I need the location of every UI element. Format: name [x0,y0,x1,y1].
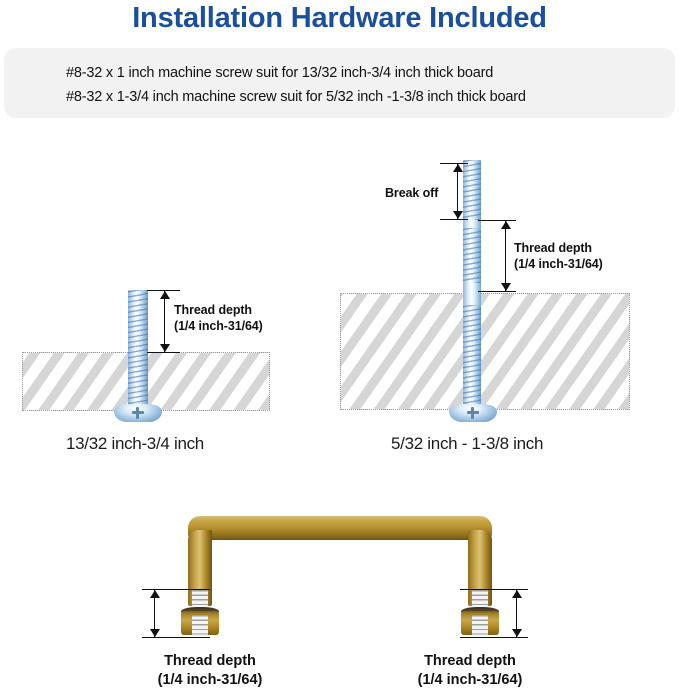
dim-tick-breakoff-bottom [440,219,468,220]
handle-dim-arrow-down-right [512,629,522,637]
dim-label-long: Thread depth (1/4 inch-31/64) [514,240,603,272]
screw-head-long [449,404,497,422]
dim-arrow-up-long [501,221,511,229]
page-title: Installation Hardware Included [0,0,679,36]
screw-long-middle [463,228,481,283]
dim-arrow-down-short [160,344,170,352]
screw-slot-cross [136,407,139,419]
handle-label-right-line1: Thread depth [390,652,550,671]
handle-label-right-line2: (1/4 inch-31/64) [390,671,550,690]
screw-short [128,290,148,411]
screw-plain-ring [463,220,481,228]
dim-label-short-line1: Thread depth [174,302,263,318]
handle-post-left-tip [192,615,208,636]
handle-dim-tick-bottom-right [460,637,528,638]
handle-label-right: Thread depth (1/4 inch-31/64) [390,652,550,690]
dim-line-short [164,291,165,352]
handle-label-left: Thread depth (1/4 inch-31/64) [130,652,290,690]
caption-short: 13/32 inch-3/4 inch [66,434,204,454]
dim-line-long [505,221,506,291]
screw-shaft-upper [463,160,481,220]
screw-plain-lower [463,283,481,305]
dim-tick-bottom-short [147,352,180,353]
handle-label-left-line1: Thread depth [130,652,290,671]
spec-box: #8-32 x 1 inch machine screw suit for 13… [4,48,675,118]
spec-line-1: #8-32 x 1 inch machine screw suit for 13… [66,65,493,81]
handle-diagram [170,516,510,646]
dim-arrow-up-short [160,291,170,299]
handle-dim-arrow-up-left [150,590,160,598]
handle-label-left-line2: (1/4 inch-31/64) [130,671,290,690]
handle-post-right-tip [472,615,488,636]
dim-label-short: Thread depth (1/4 inch-31/64) [174,302,263,334]
screw-shaft-middle [463,228,481,283]
dim-tick-bottom-long [478,291,516,292]
dim-arrow-up-breakoff [453,164,463,172]
caption-long: 5/32 inch - 1-3/8 inch [391,434,543,454]
label-break-off: Break off [385,185,438,201]
screw-long-lower [463,305,481,411]
handle-bar [188,516,492,540]
handle-dim-arrow-down-left [150,629,160,637]
screw-shaft [128,290,148,411]
dim-arrow-down-breakoff [453,211,463,219]
screw-long-upper [463,160,481,220]
dim-label-long-line2: (1/4 inch-31/64) [514,256,603,272]
dim-label-long-line1: Thread depth [514,240,603,256]
screw-shaft-lower [463,305,481,411]
screw-long-plain [463,283,481,305]
dim-label-short-line2: (1/4 inch-31/64) [174,318,263,334]
screw-break-ring [463,220,481,228]
board-long [340,293,630,410]
handle-dim-tick-bottom-left [142,637,210,638]
screw-slot-long-cross [471,407,474,419]
spec-line-2: #8-32 x 1-3/4 inch machine screw suit fo… [66,89,526,105]
screw-head-short [114,404,162,422]
handle-dim-arrow-up-right [512,590,522,598]
dim-arrow-down-long [501,283,511,291]
